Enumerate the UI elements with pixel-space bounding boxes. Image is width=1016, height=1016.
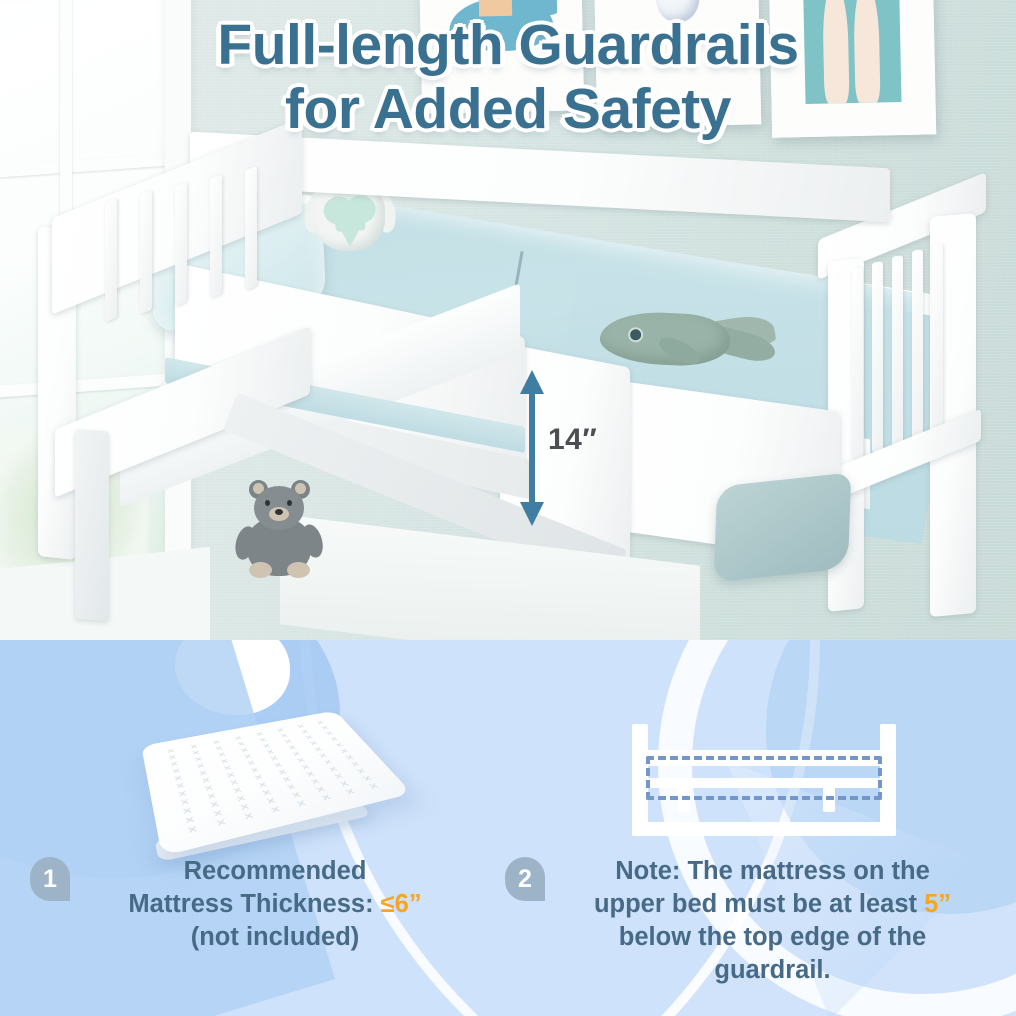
infographic-root: 14″ Full-length Guardrails for Added Saf… xyxy=(0,0,1016,1016)
caption-1-highlight: ≤6” xyxy=(381,890,422,918)
caption-2-line-3: below the top edge of the xyxy=(549,921,996,954)
caption-2-line-1: Note: The mattress on the xyxy=(549,855,996,888)
bed-frame-diagram xyxy=(618,720,910,842)
caption-1: 1 Recommended Mattress Thickness: ≤6” (n… xyxy=(30,855,480,954)
headboard-slat-4 xyxy=(912,249,923,440)
gray-bear-eye-right xyxy=(287,500,292,506)
headboard-slat-5 xyxy=(932,243,943,434)
caption-2-line-2-prefix: upper bed must be at least xyxy=(594,890,924,918)
caption-2: 2 Note: The mattress on the upper bed mu… xyxy=(505,855,1000,988)
caption-1-line-1: Recommended xyxy=(74,855,476,888)
title-line-2: for Added Safety xyxy=(0,78,1016,142)
gray-bear-foot-right xyxy=(287,562,310,578)
badge-1: 1 xyxy=(30,857,70,901)
caption-1-text: Recommended Mattress Thickness: ≤6” (not… xyxy=(70,855,480,954)
left-end-slat-4 xyxy=(210,174,222,298)
tufted-mattress-illustration: ✕✕✕✕✕✕✕✕ ✕✕✕✕✕✕✕✕ ✕✕✕✕✕✕✕✕ ✕✕✕✕✕✕✕✕ ✕✕✕✕… xyxy=(152,688,382,848)
caption-2-highlight: 5” xyxy=(924,890,951,918)
caption-1-line-3: (not included) xyxy=(74,921,476,954)
left-end-slat-3 xyxy=(175,182,187,306)
left-end-slat-2 xyxy=(140,190,152,314)
headboard-slat-3 xyxy=(892,255,903,446)
mattress-zone-dashed-outline xyxy=(646,756,882,800)
diagram-bottom-rail xyxy=(632,822,896,836)
left-end-slat-1 xyxy=(105,198,117,322)
caption-1-line-2-prefix: Mattress Thickness: xyxy=(128,890,380,918)
bottom-info-panel: ✕✕✕✕✕✕✕✕ ✕✕✕✕✕✕✕✕ ✕✕✕✕✕✕✕✕ ✕✕✕✕✕✕✕✕ ✕✕✕✕… xyxy=(0,640,1016,1016)
caption-2-line-4: guardrail. xyxy=(549,954,996,987)
left-end-slat-5 xyxy=(245,166,257,290)
headboard-slat-1 xyxy=(852,267,863,458)
lower-bunk-pillow xyxy=(714,473,852,583)
headboard-slat-2 xyxy=(872,261,883,452)
gray-bear-eye-left xyxy=(265,500,270,506)
page-title: Full-length Guardrails for Added Safety xyxy=(0,14,1016,142)
badge-2: 2 xyxy=(505,857,545,901)
ladder-rail xyxy=(75,429,109,621)
caption-1-line-2: Mattress Thickness: ≤6” xyxy=(74,888,476,921)
gray-teddy-bear xyxy=(235,478,323,578)
title-line-1: Full-length Guardrails xyxy=(217,13,798,77)
caption-2-line-2: upper bed must be at least 5” xyxy=(549,888,996,921)
gray-bear-nose xyxy=(275,509,283,515)
dimension-label: 14″ xyxy=(548,423,597,457)
gray-bear-foot-left xyxy=(249,562,272,578)
caption-2-text: Note: The mattress on the upper bed must… xyxy=(545,855,1000,988)
dimension-callout-14in: 14″ xyxy=(510,368,660,528)
plush-whale xyxy=(598,303,776,374)
